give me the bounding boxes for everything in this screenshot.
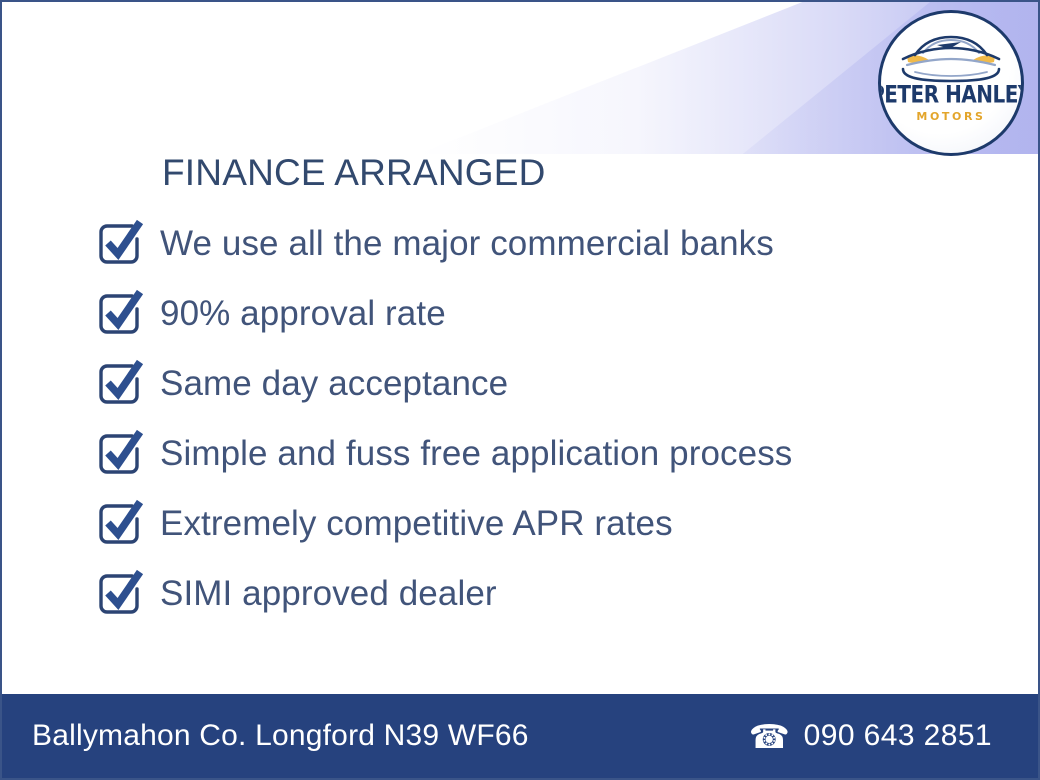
- checkbox-checked-icon: [94, 567, 146, 619]
- dealer-address: Ballymahon Co. Longford N39 WF66: [32, 719, 529, 753]
- list-item-label: 90% approval rate: [160, 296, 446, 331]
- finance-arranged-poster: PETER HANLEY MOTORS FINANCE ARRANGED We …: [0, 0, 1040, 780]
- page-title: FINANCE ARRANGED: [162, 152, 546, 194]
- list-item: Simple and fuss free application process: [94, 418, 994, 488]
- list-item-label: Simple and fuss free application process: [160, 436, 792, 471]
- checkbox-checked-icon: [94, 357, 146, 409]
- feature-list: We use all the major commercial banks 90…: [94, 208, 994, 628]
- checkbox-checked-icon: [94, 217, 146, 269]
- list-item-label: Same day acceptance: [160, 366, 508, 401]
- list-item-label: SIMI approved dealer: [160, 576, 497, 611]
- list-item: Extremely competitive APR rates: [94, 488, 994, 558]
- footer-bar: Ballymahon Co. Longford N39 WF66 ☎ 090 6…: [2, 694, 1038, 778]
- car-front-icon: [893, 29, 1009, 83]
- checkbox-checked-icon: [94, 497, 146, 549]
- phone-contact[interactable]: ☎ 090 643 2851: [749, 719, 1014, 753]
- list-item: SIMI approved dealer: [94, 558, 994, 628]
- brand-subtitle: MOTORS: [916, 111, 985, 122]
- list-item-label: We use all the major commercial banks: [160, 226, 774, 261]
- list-item: Same day acceptance: [94, 348, 994, 418]
- brand-name: PETER HANLEY: [878, 82, 1024, 106]
- checkbox-checked-icon: [94, 427, 146, 479]
- list-item: We use all the major commercial banks: [94, 208, 994, 278]
- brand-logo: PETER HANLEY MOTORS: [878, 10, 1024, 156]
- phone-number[interactable]: 090 643 2851: [804, 719, 992, 753]
- list-item-label: Extremely competitive APR rates: [160, 506, 673, 541]
- checkbox-checked-icon: [94, 287, 146, 339]
- list-item: 90% approval rate: [94, 278, 994, 348]
- telephone-icon: ☎: [749, 720, 790, 753]
